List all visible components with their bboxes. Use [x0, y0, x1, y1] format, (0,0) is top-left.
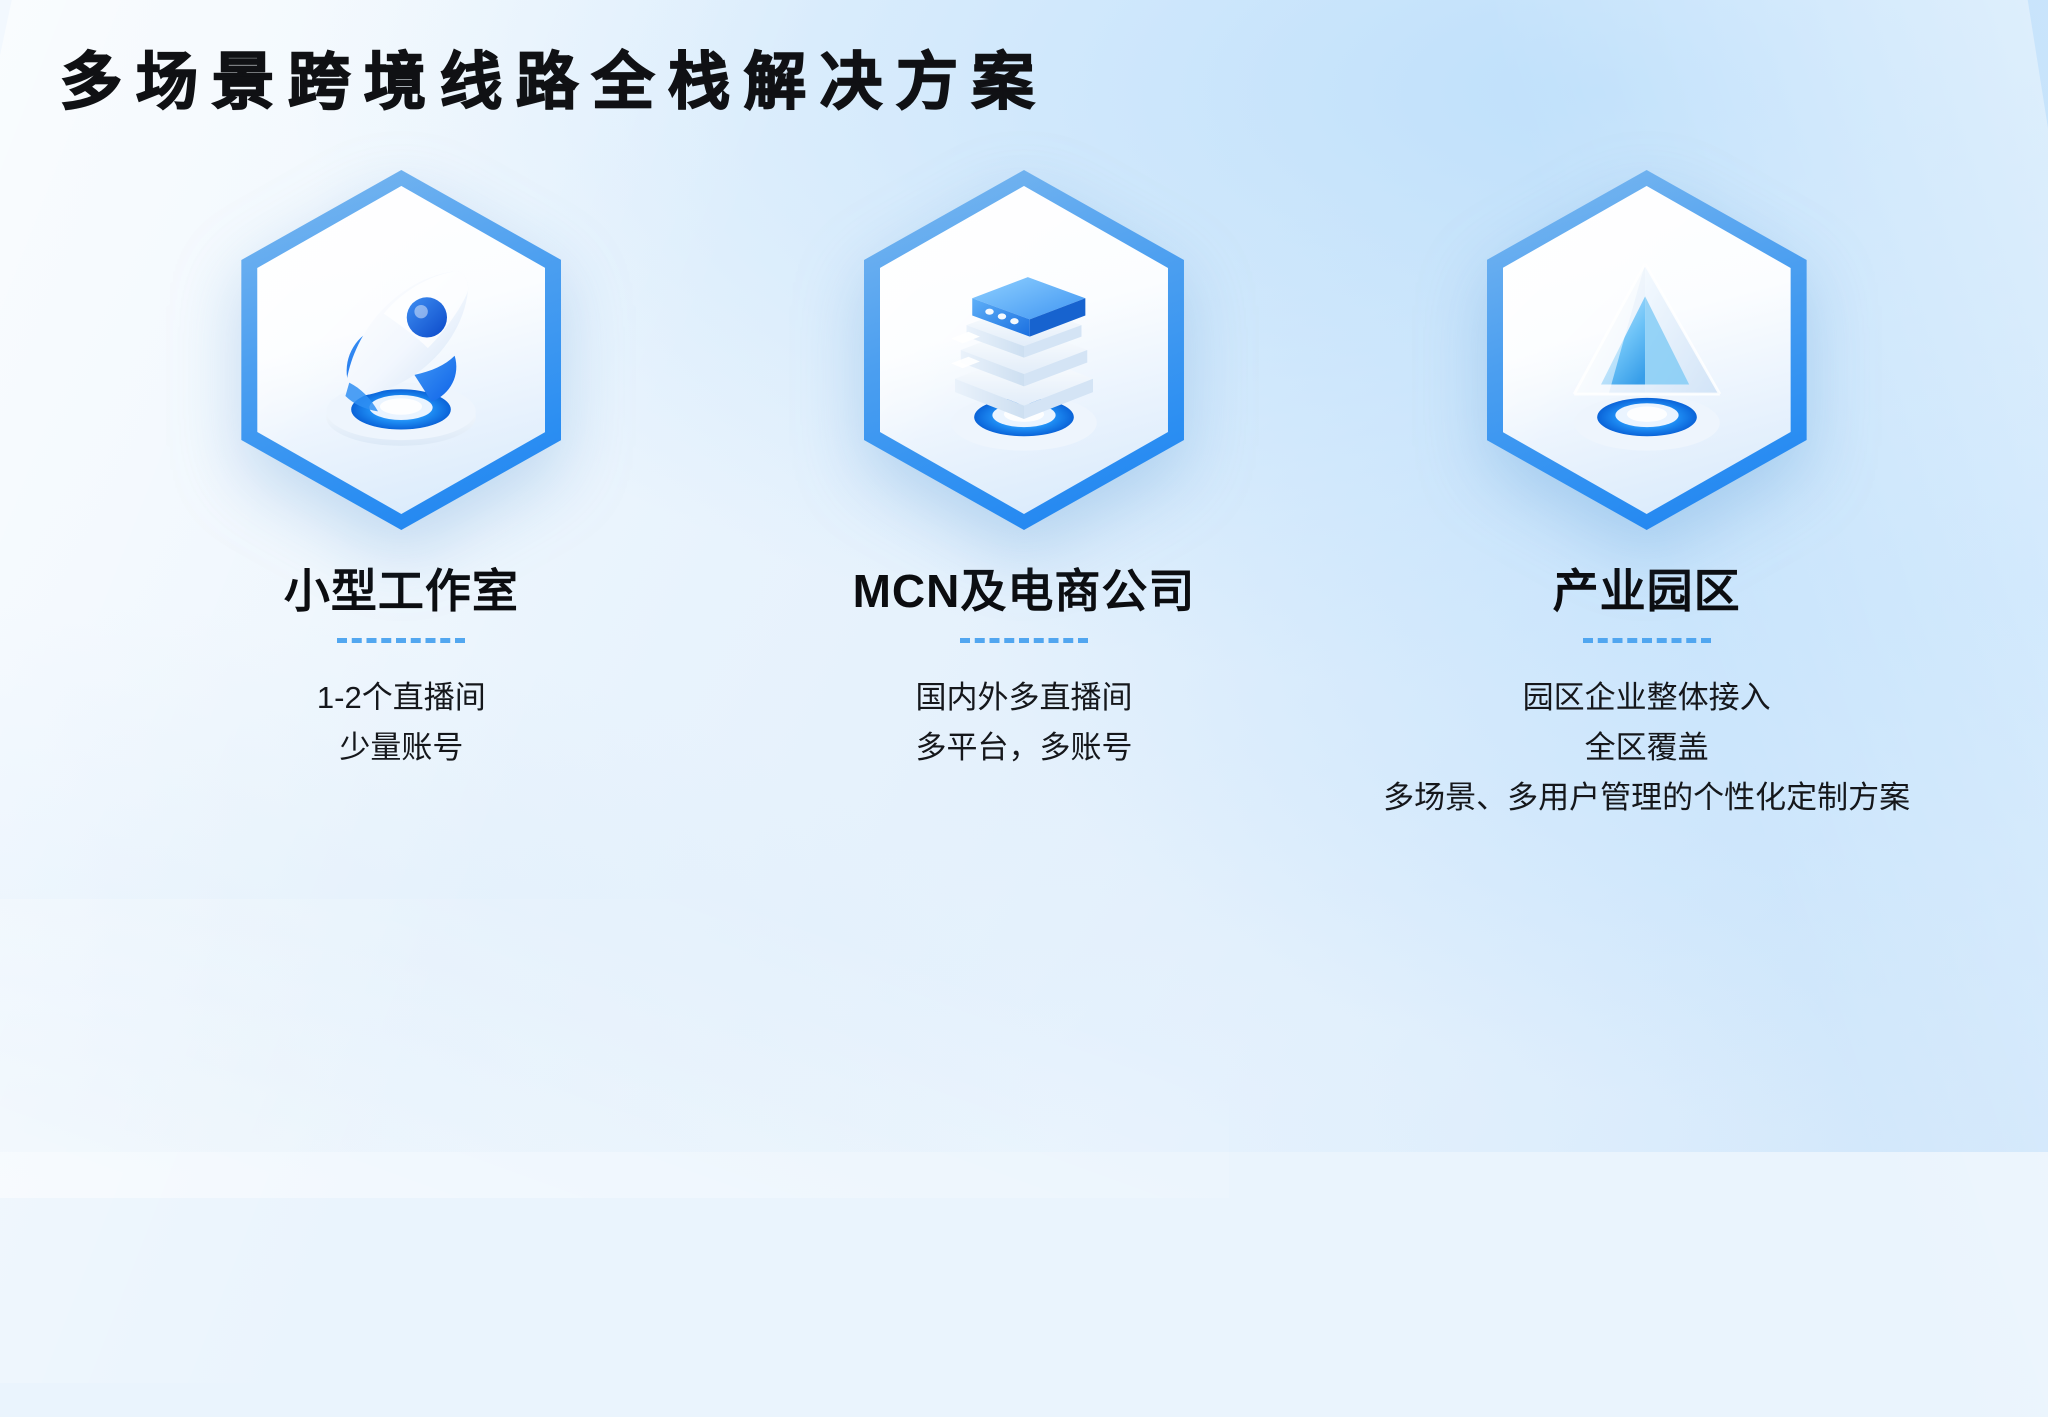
- scenario-card-industrial-park[interactable]: 产业园区 园区企业整体接入 全区覆盖 多场景、多用户管理的个性化定制方案: [1367, 170, 1927, 823]
- desc-line: 1-2个直播间: [317, 673, 486, 723]
- desc-line: 全区覆盖: [1383, 723, 1910, 773]
- light-streak-bottom: [0, 899, 1229, 1199]
- scenario-card-mcn-ecommerce[interactable]: MCN及电商公司 国内外多直播间 多平台，多账号: [744, 170, 1304, 773]
- hexagon-badge: [241, 170, 561, 530]
- card-title: MCN及电商公司: [853, 566, 1196, 618]
- hexagon-badge: [1487, 170, 1807, 530]
- title-divider: [1583, 638, 1711, 643]
- title-divider: [960, 638, 1088, 643]
- hexagon-badge: [864, 170, 1184, 530]
- rocket-icon: [257, 186, 545, 514]
- card-title: 小型工作室: [284, 566, 519, 618]
- card-description: 园区企业整体接入 全区覆盖 多场景、多用户管理的个性化定制方案: [1383, 673, 1910, 824]
- card-description: 国内外多直播间 多平台，多账号: [915, 673, 1132, 773]
- card-title: 产业园区: [1553, 566, 1741, 618]
- page-title: 多场景跨境线路全栈解决方案: [60, 52, 1048, 114]
- server-stack-icon: [880, 186, 1168, 514]
- desc-line: 少量账号: [317, 723, 486, 773]
- scenario-card-small-studio[interactable]: 小型工作室 1-2个直播间 少量账号: [121, 170, 681, 773]
- pyramid-icon: [1503, 186, 1791, 514]
- title-divider: [337, 638, 465, 643]
- desc-line: 多平台，多账号: [915, 723, 1132, 773]
- desc-line: 多场景、多用户管理的个性化定制方案: [1383, 773, 1910, 823]
- card-row: 小型工作室 1-2个直播间 少量账号: [0, 170, 2048, 823]
- card-description: 1-2个直播间 少量账号: [317, 673, 486, 773]
- desc-line: 国内外多直播间: [915, 673, 1132, 723]
- desc-line: 园区企业整体接入: [1383, 673, 1910, 723]
